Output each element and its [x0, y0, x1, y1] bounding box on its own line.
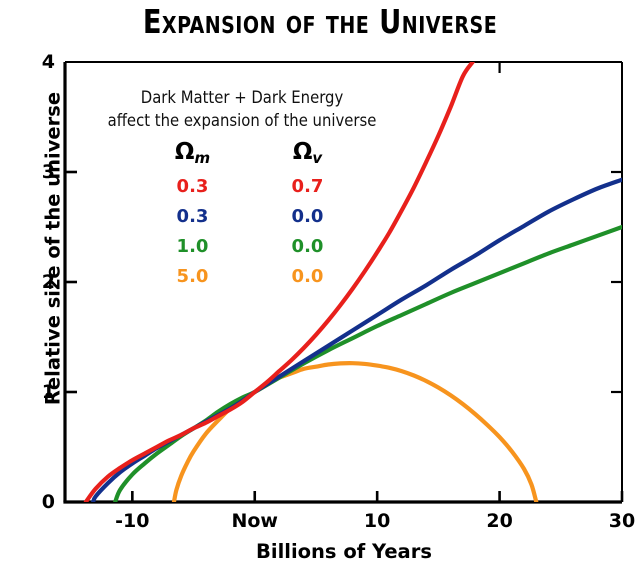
legend-omega-v-value: 0.0	[250, 232, 365, 262]
legend-omega-m-value: 5.0	[135, 262, 250, 292]
legend-omega-v-value: 0.0	[250, 202, 365, 232]
y-tick-label: 4	[29, 51, 55, 73]
omega-symbol: Ω	[293, 139, 313, 165]
annotation-line-2: affect the expansion of the universe	[92, 109, 392, 132]
legend-omega-m-value: 0.3	[135, 172, 250, 202]
annotation-line-1: Dark Matter + Dark Energy	[92, 86, 392, 109]
x-axis-label: Billions of Years	[65, 540, 623, 563]
legend-header-omega-v: Ωv	[250, 138, 365, 172]
x-tick-label: 10	[364, 510, 390, 532]
y-tick-label: 2	[29, 271, 55, 293]
y-axis-label: Relative size of the universe	[42, 84, 65, 414]
legend: Ωm Ωv 0.30.70.30.01.00.05.00.0	[135, 138, 365, 292]
x-tick-label: 30	[609, 510, 635, 532]
legend-row: 0.30.7	[135, 172, 365, 202]
legend-omega-v-value: 0.0	[250, 262, 365, 292]
x-tick-label: -10	[115, 510, 149, 532]
legend-row: 5.00.0	[135, 262, 365, 292]
legend-header-row: Ωm Ωv	[135, 138, 365, 172]
omega-v-subscript: v	[312, 149, 322, 167]
annotation-text: Dark Matter + Dark Energy affect the exp…	[92, 86, 392, 132]
omega-m-subscript: m	[194, 149, 210, 167]
x-tick-label: 20	[486, 510, 512, 532]
legend-omega-m-value: 0.3	[135, 202, 250, 232]
legend-row: 1.00.0	[135, 232, 365, 262]
legend-omega-v-value: 0.7	[250, 172, 365, 202]
legend-rows: 0.30.70.30.01.00.05.00.0	[135, 172, 365, 292]
y-tick-label: 3	[29, 161, 55, 183]
x-tick-label: Now	[231, 510, 278, 532]
y-tick-label: 0	[29, 491, 55, 513]
omega-symbol: Ω	[175, 139, 195, 165]
legend-omega-m-value: 1.0	[135, 232, 250, 262]
chart-page: Expansion of the Universe Relative size …	[0, 0, 640, 575]
y-tick-label: 1	[29, 381, 55, 403]
legend-header-omega-m: Ωm	[135, 138, 250, 172]
legend-row: 0.30.0	[135, 202, 365, 232]
